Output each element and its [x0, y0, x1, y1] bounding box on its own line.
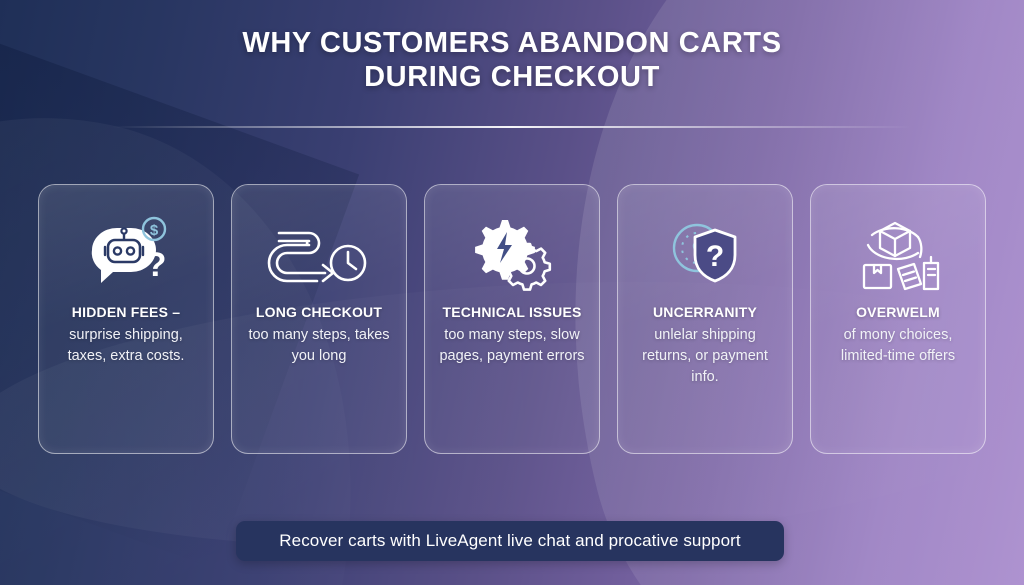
card-heading: UNCERRANITY — [632, 303, 778, 321]
page-title: WHY CUSTOMERS ABANDON CARTS DURING CHECK… — [0, 26, 1024, 94]
gears-lightning-icon — [464, 207, 560, 303]
title-line-2: DURING CHECKOUT — [0, 60, 1024, 94]
card-body: too many steps, takes you long — [246, 325, 392, 367]
card-text-block: OVERWELM of mony choices, limited-time o… — [821, 303, 975, 367]
card-heading: TECHNICAL ISSUES — [439, 303, 585, 321]
shield-question-globe-icon: ? — [657, 207, 753, 303]
cta-banner-text: Recover carts with LiveAgent live chat a… — [279, 531, 740, 551]
card-technical-issues: TECHNICAL ISSUES too many steps, slow pa… — [424, 184, 600, 454]
card-heading: HIDDEN FEES – — [53, 303, 199, 321]
svg-text:$: $ — [150, 222, 159, 239]
winding-path-clock-icon — [269, 207, 369, 303]
infographic-slide: WHY CUSTOMERS ABANDON CARTS DURING CHECK… — [0, 0, 1024, 585]
title-divider — [112, 126, 912, 128]
card-body: surprise shipping, taxes, extra costs. — [53, 325, 199, 367]
chatbot-dollar-question-icon: $ ? — [78, 207, 174, 303]
package-tags-icon — [848, 207, 948, 303]
card-heading: LONG CHECKOUT — [246, 303, 392, 321]
reason-cards-row: $ ? HIDDEN FEES – surprise shipping, tax… — [38, 184, 986, 454]
card-body: of mony choices, limited-time offers — [825, 325, 971, 367]
card-text-block: UNCERRANITY unlelar shipping returns, or… — [628, 303, 782, 388]
card-overwhelm: OVERWELM of mony choices, limited-time o… — [810, 184, 986, 454]
card-body: too many steps, slow pages, payment erro… — [439, 325, 585, 367]
svg-text:?: ? — [146, 246, 167, 284]
card-hidden-fees: $ ? HIDDEN FEES – surprise shipping, tax… — [38, 184, 214, 454]
card-text-block: TECHNICAL ISSUES too many steps, slow pa… — [435, 303, 589, 367]
title-line-1: WHY CUSTOMERS ABANDON CARTS — [0, 26, 1024, 60]
card-body: unlelar shipping returns, or payment inf… — [632, 325, 778, 388]
card-text-block: HIDDEN FEES – surprise shipping, taxes, … — [49, 303, 203, 367]
card-long-checkout: LONG CHECKOUT too many steps, takes you … — [231, 184, 407, 454]
card-heading: OVERWELM — [825, 303, 971, 321]
card-uncertainty: ? UNCERRANITY unlelar shipping returns, … — [617, 184, 793, 454]
cta-banner[interactable]: Recover carts with LiveAgent live chat a… — [236, 521, 784, 561]
svg-text:?: ? — [706, 240, 724, 273]
card-text-block: LONG CHECKOUT too many steps, takes you … — [242, 303, 396, 367]
